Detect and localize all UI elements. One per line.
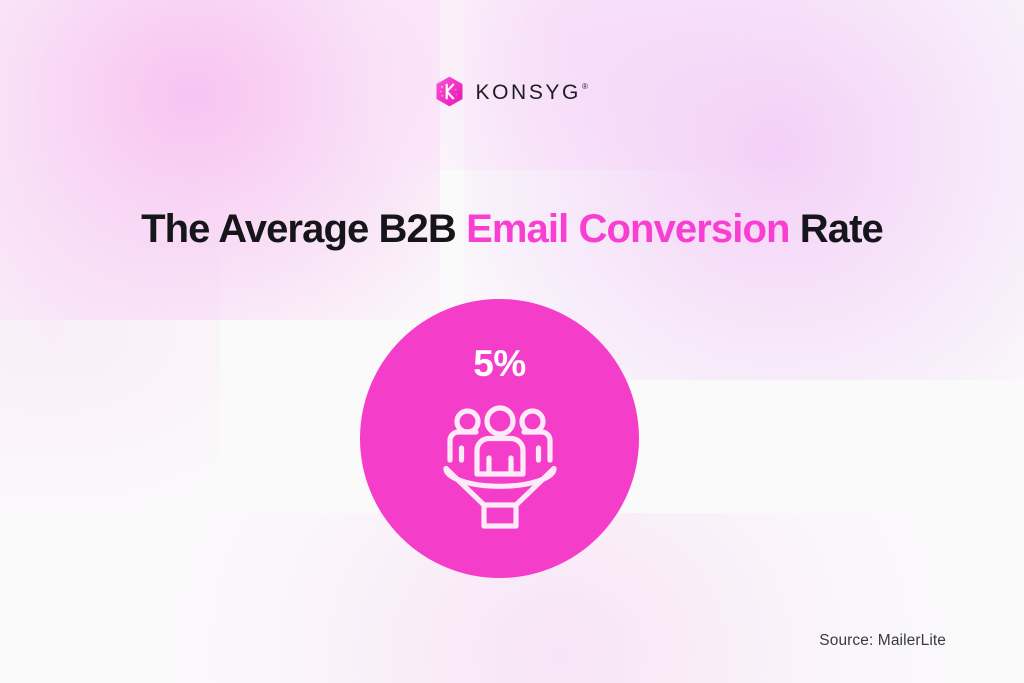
page-title: The Average B2B Email Conversion Rate	[0, 207, 1024, 252]
brand-wordmark: KONSYG ®	[476, 80, 591, 103]
background-glow-left	[0, 120, 220, 540]
source-note: Source: MailerLite	[819, 632, 946, 650]
audience-funnel-icon	[439, 404, 561, 532]
brand-wordmark-text: KONSYG	[476, 82, 581, 103]
konsyg-hexagon-k-logo-icon	[434, 76, 465, 107]
infographic-canvas: KONSYG ® The Average B2B Email Conversio…	[0, 0, 1024, 683]
page-title-accent: Email Conversion	[466, 207, 789, 251]
brand-trademark-symbol: ®	[581, 82, 591, 91]
background-glow-top-left	[0, 0, 440, 320]
brand-logo: KONSYG ®	[0, 76, 1024, 107]
page-title-part-2: Rate	[790, 207, 883, 251]
stat-value: 5%	[473, 345, 525, 382]
stat-circle: 5%	[360, 299, 639, 578]
page-title-part-1: The Average B2B	[141, 207, 466, 251]
